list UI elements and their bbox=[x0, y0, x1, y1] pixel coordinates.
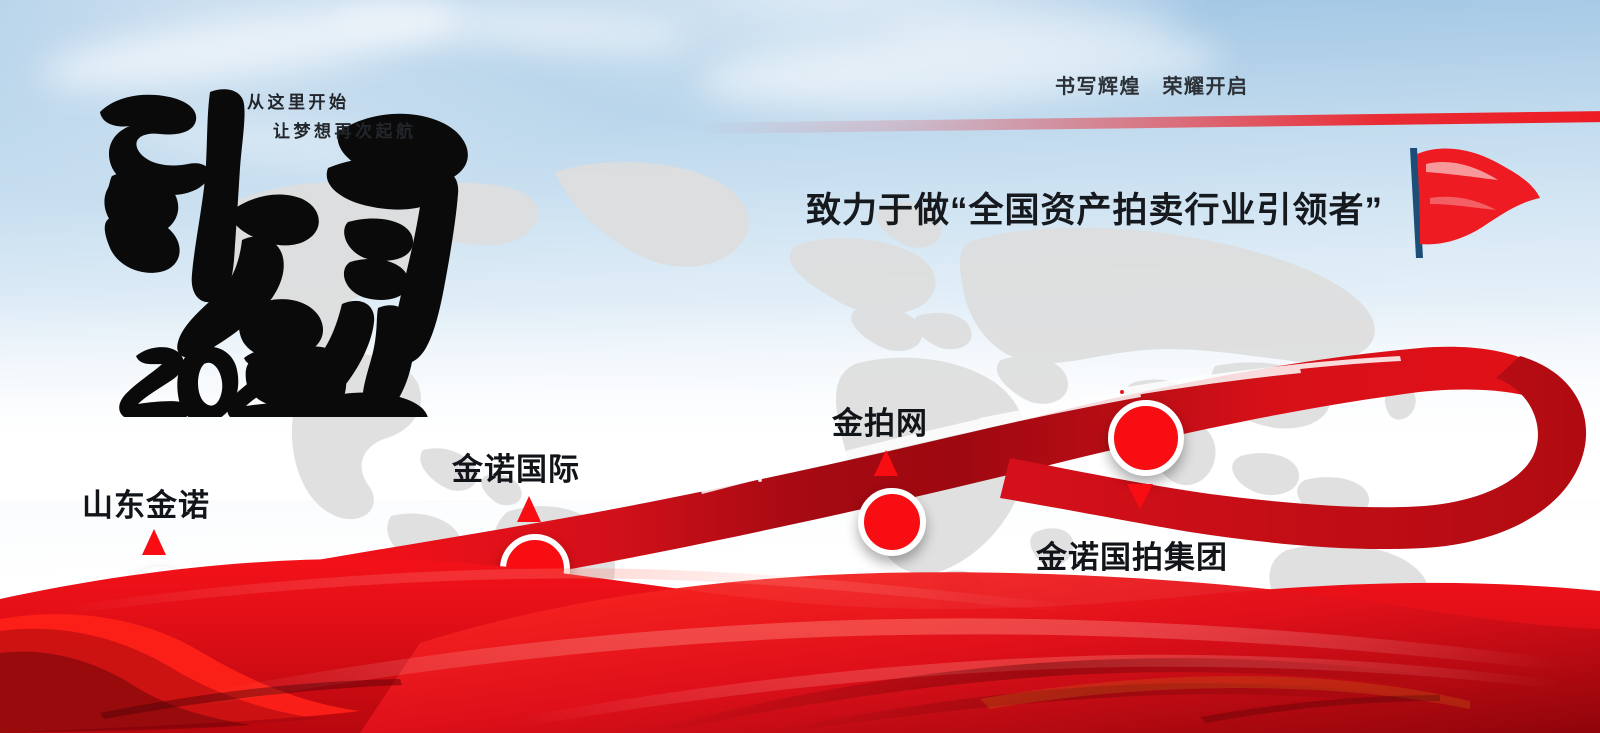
pointer-up-icon bbox=[874, 450, 898, 476]
header-tagline: 书写辉煌 荣耀开启 bbox=[1055, 70, 1249, 99]
red-flag-icon bbox=[1392, 140, 1542, 270]
page-headline: 致力于做“全国资产拍卖行业引领者” bbox=[806, 182, 1383, 233]
cloud-shape bbox=[880, 6, 1180, 46]
timeline-node-4[interactable]: 金诺国拍集团 bbox=[1108, 400, 1184, 476]
timeline-node-4-dot[interactable] bbox=[1108, 400, 1184, 476]
red-silk-ribbon bbox=[0, 503, 1600, 733]
poster-canvas: 书写辉煌 荣耀开启 bbox=[0, 0, 1600, 733]
timeline-node-3-label: 金拍网 bbox=[832, 398, 928, 443]
hero-subtitle-line-1: 从这里开始 bbox=[247, 93, 350, 112]
timeline-node-2-label: 金诺国际 bbox=[452, 444, 580, 489]
cloud-shape bbox=[329, 0, 691, 61]
